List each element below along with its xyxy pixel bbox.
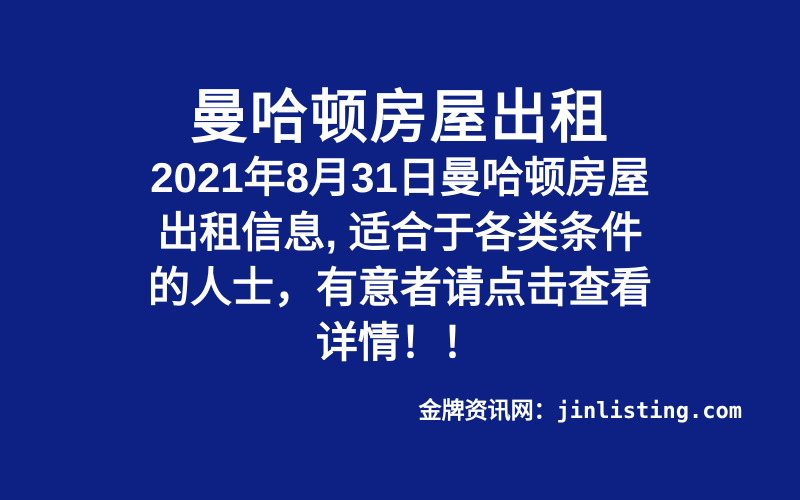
page-title: 曼哈顿房屋出租 (0, 85, 800, 151)
body-line: 详情！！ (60, 315, 740, 370)
poster-canvas: 曼哈顿房屋出租 2021年8月31日曼哈顿房屋 出租信息, 适合于各类条件 的人… (0, 0, 800, 500)
site-url-label: jinlisting.com (557, 399, 742, 424)
body-line: 的人士，有意者请点击查看 (60, 260, 740, 315)
body-line: 2021年8月31日曼哈顿房屋 (60, 150, 740, 205)
poster-body-text: 2021年8月31日曼哈顿房屋 出租信息, 适合于各类条件 的人士，有意者请点击… (60, 150, 740, 370)
body-line: 出租信息, 适合于各类条件 (60, 205, 740, 260)
watermark-footer: 金牌资讯网：jinlisting.com (419, 396, 742, 426)
site-name-label: 金牌资讯网： (419, 397, 557, 423)
